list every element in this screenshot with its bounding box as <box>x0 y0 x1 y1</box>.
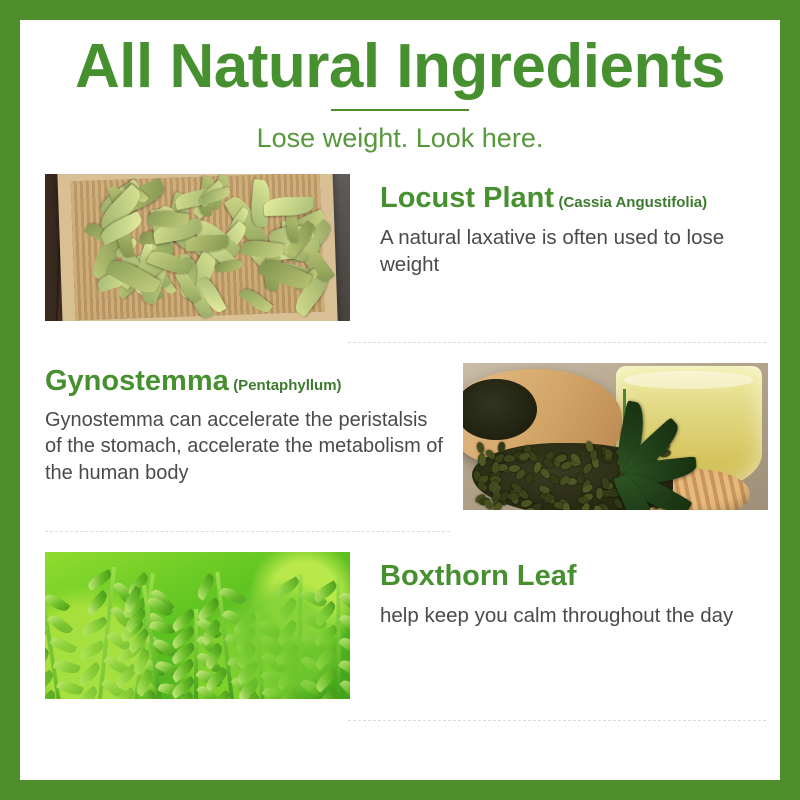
row-divider-3 <box>348 720 766 721</box>
ingredient-description: help keep you calm throughout the day <box>380 602 766 629</box>
ingredient-description: A natural laxative is often used to lose… <box>380 224 766 278</box>
title-divider <box>331 109 469 111</box>
ingredient-heading-boxthorn-leaf: Boxthorn Leaf <box>380 560 766 593</box>
ingredient-image-locust-plant <box>45 174 350 321</box>
bokeh-overlay <box>45 552 350 699</box>
ingredient-heading-locust-plant: Locust Plant (Cassia Angustifolia) <box>380 182 766 215</box>
page-title: All Natural Ingredients <box>20 34 780 99</box>
ingredient-name: Boxthorn Leaf <box>380 560 577 592</box>
ingredient-description: Gynostemma can accelerate the peristalsi… <box>45 407 443 486</box>
ingredient-row-locust-plant: Locust Plant (Cassia Angustifolia) A nat… <box>20 174 780 343</box>
ingredient-row-boxthorn-leaf: Boxthorn Leaf help keep you calm through… <box>20 552 780 721</box>
gynostemma-leaf <box>585 384 744 510</box>
page-subtitle: Lose weight. Look here. <box>20 122 780 154</box>
header: All Natural Ingredients Lose weight. Loo… <box>20 20 780 154</box>
ingredient-image-gynostemma <box>463 363 768 510</box>
ingredient-copy-boxthorn-leaf: Boxthorn Leaf help keep you calm through… <box>350 552 780 628</box>
ingredient-scientific-name: (Cassia Angustifolia) <box>558 194 707 211</box>
wooden-tray <box>57 174 337 321</box>
ingredient-row-gynostemma: Gynostemma (Pentaphyllum) Gynostemma can… <box>20 363 780 532</box>
ingredient-copy-gynostemma: Gynostemma (Pentaphyllum) Gynostemma can… <box>20 363 463 486</box>
ingredient-name: Gynostemma <box>45 365 229 397</box>
ingredient-heading-gynostemma: Gynostemma (Pentaphyllum) <box>45 365 443 398</box>
ingredient-name: Locust Plant <box>380 182 554 214</box>
poster-inner: All Natural Ingredients Lose weight. Loo… <box>20 20 780 780</box>
dried-senna-leaves <box>71 174 324 320</box>
title-divider-wrap <box>20 109 780 111</box>
ingredient-copy-locust-plant: Locust Plant (Cassia Angustifolia) A nat… <box>350 174 780 277</box>
pot-opening <box>463 379 537 441</box>
row-divider-1 <box>348 342 766 343</box>
poster-frame: All Natural Ingredients Lose weight. Loo… <box>0 0 800 800</box>
row-divider-2 <box>45 531 450 532</box>
ingredient-image-boxthorn-leaf <box>45 552 350 699</box>
ingredient-scientific-name: (Pentaphyllum) <box>233 377 341 394</box>
